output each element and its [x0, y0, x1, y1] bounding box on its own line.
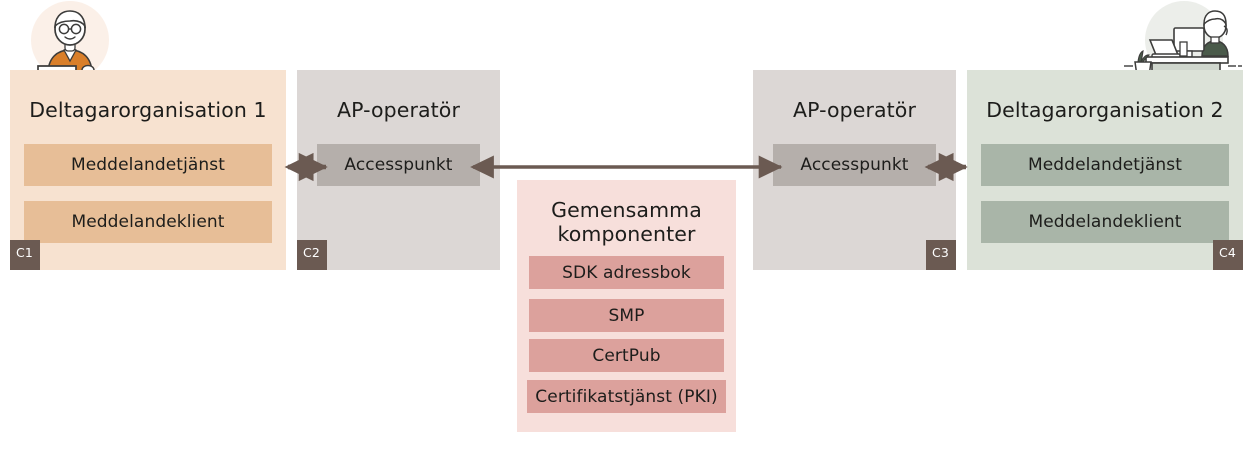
org1-band-label-0: Meddelandetjänst — [71, 155, 225, 175]
org2-title: Deltagarorganisation 2 — [967, 98, 1243, 122]
panel-ap-operator-2[interactable]: AP-operatör Accesspunkt C3 — [753, 70, 956, 270]
panel-gemensamma-komponenter[interactable]: Gemensamma komponenter SDK adressbok SMP… — [517, 180, 736, 432]
org1-band-meddelandeklient[interactable]: Meddelandeklient — [24, 201, 272, 243]
ap1-band-accesspunkt[interactable]: Accesspunkt — [317, 144, 480, 186]
shared-title-line2: komponenter — [517, 222, 736, 246]
shared-band-smp[interactable]: SMP — [529, 299, 724, 332]
org1-badge-c1: C1 — [10, 240, 40, 270]
person-at-laptop-left-illustration — [14, 0, 126, 80]
panel-deltagarorganisation-1[interactable]: Deltagarorganisation 1 Meddelandetjänst … — [10, 70, 286, 270]
ap2-band-label-0: Accesspunkt — [800, 155, 908, 175]
diagram-canvas: Deltagarorganisation 1 Meddelandetjänst … — [0, 0, 1253, 449]
org2-band-meddelandetjanst[interactable]: Meddelandetjänst — [981, 144, 1229, 186]
ap1-title: AP-operatör — [297, 98, 500, 122]
ap2-title: AP-operatör — [753, 98, 956, 122]
shared-band-certpub[interactable]: CertPub — [529, 339, 724, 372]
panel-ap-operator-1[interactable]: AP-operatör Accesspunkt C2 — [297, 70, 500, 270]
org2-band-label-0: Meddelandetjänst — [1028, 155, 1182, 175]
org1-band-label-1: Meddelandeklient — [71, 212, 224, 232]
ap1-band-label-0: Accesspunkt — [344, 155, 452, 175]
org2-badge-c4: C4 — [1213, 240, 1243, 270]
ap2-badge-c3: C3 — [926, 240, 956, 270]
shared-band-certifikatstjanst-pki[interactable]: Certifikatstjänst (PKI) — [527, 380, 726, 413]
org1-band-meddelandetjanst[interactable]: Meddelandetjänst — [24, 144, 272, 186]
org2-band-meddelandeklient[interactable]: Meddelandeklient — [981, 201, 1229, 243]
ap2-band-accesspunkt[interactable]: Accesspunkt — [773, 144, 936, 186]
shared-band-label-1: SMP — [608, 306, 644, 326]
org1-title: Deltagarorganisation 1 — [10, 98, 286, 122]
ap1-badge-c2: C2 — [297, 240, 327, 270]
shared-band-label-0: SDK adressbok — [562, 263, 691, 283]
shared-band-sdk-adressbok[interactable]: SDK adressbok — [529, 256, 724, 289]
shared-band-label-3: Certifikatstjänst (PKI) — [535, 387, 717, 407]
person-at-desk-right-illustration — [1124, 0, 1242, 80]
org2-band-label-1: Meddelandeklient — [1028, 212, 1181, 232]
panel-deltagarorganisation-2[interactable]: Deltagarorganisation 2 Meddelandetjänst … — [967, 70, 1243, 270]
shared-title-line1: Gemensamma — [517, 198, 736, 222]
shared-band-label-2: CertPub — [592, 346, 660, 366]
